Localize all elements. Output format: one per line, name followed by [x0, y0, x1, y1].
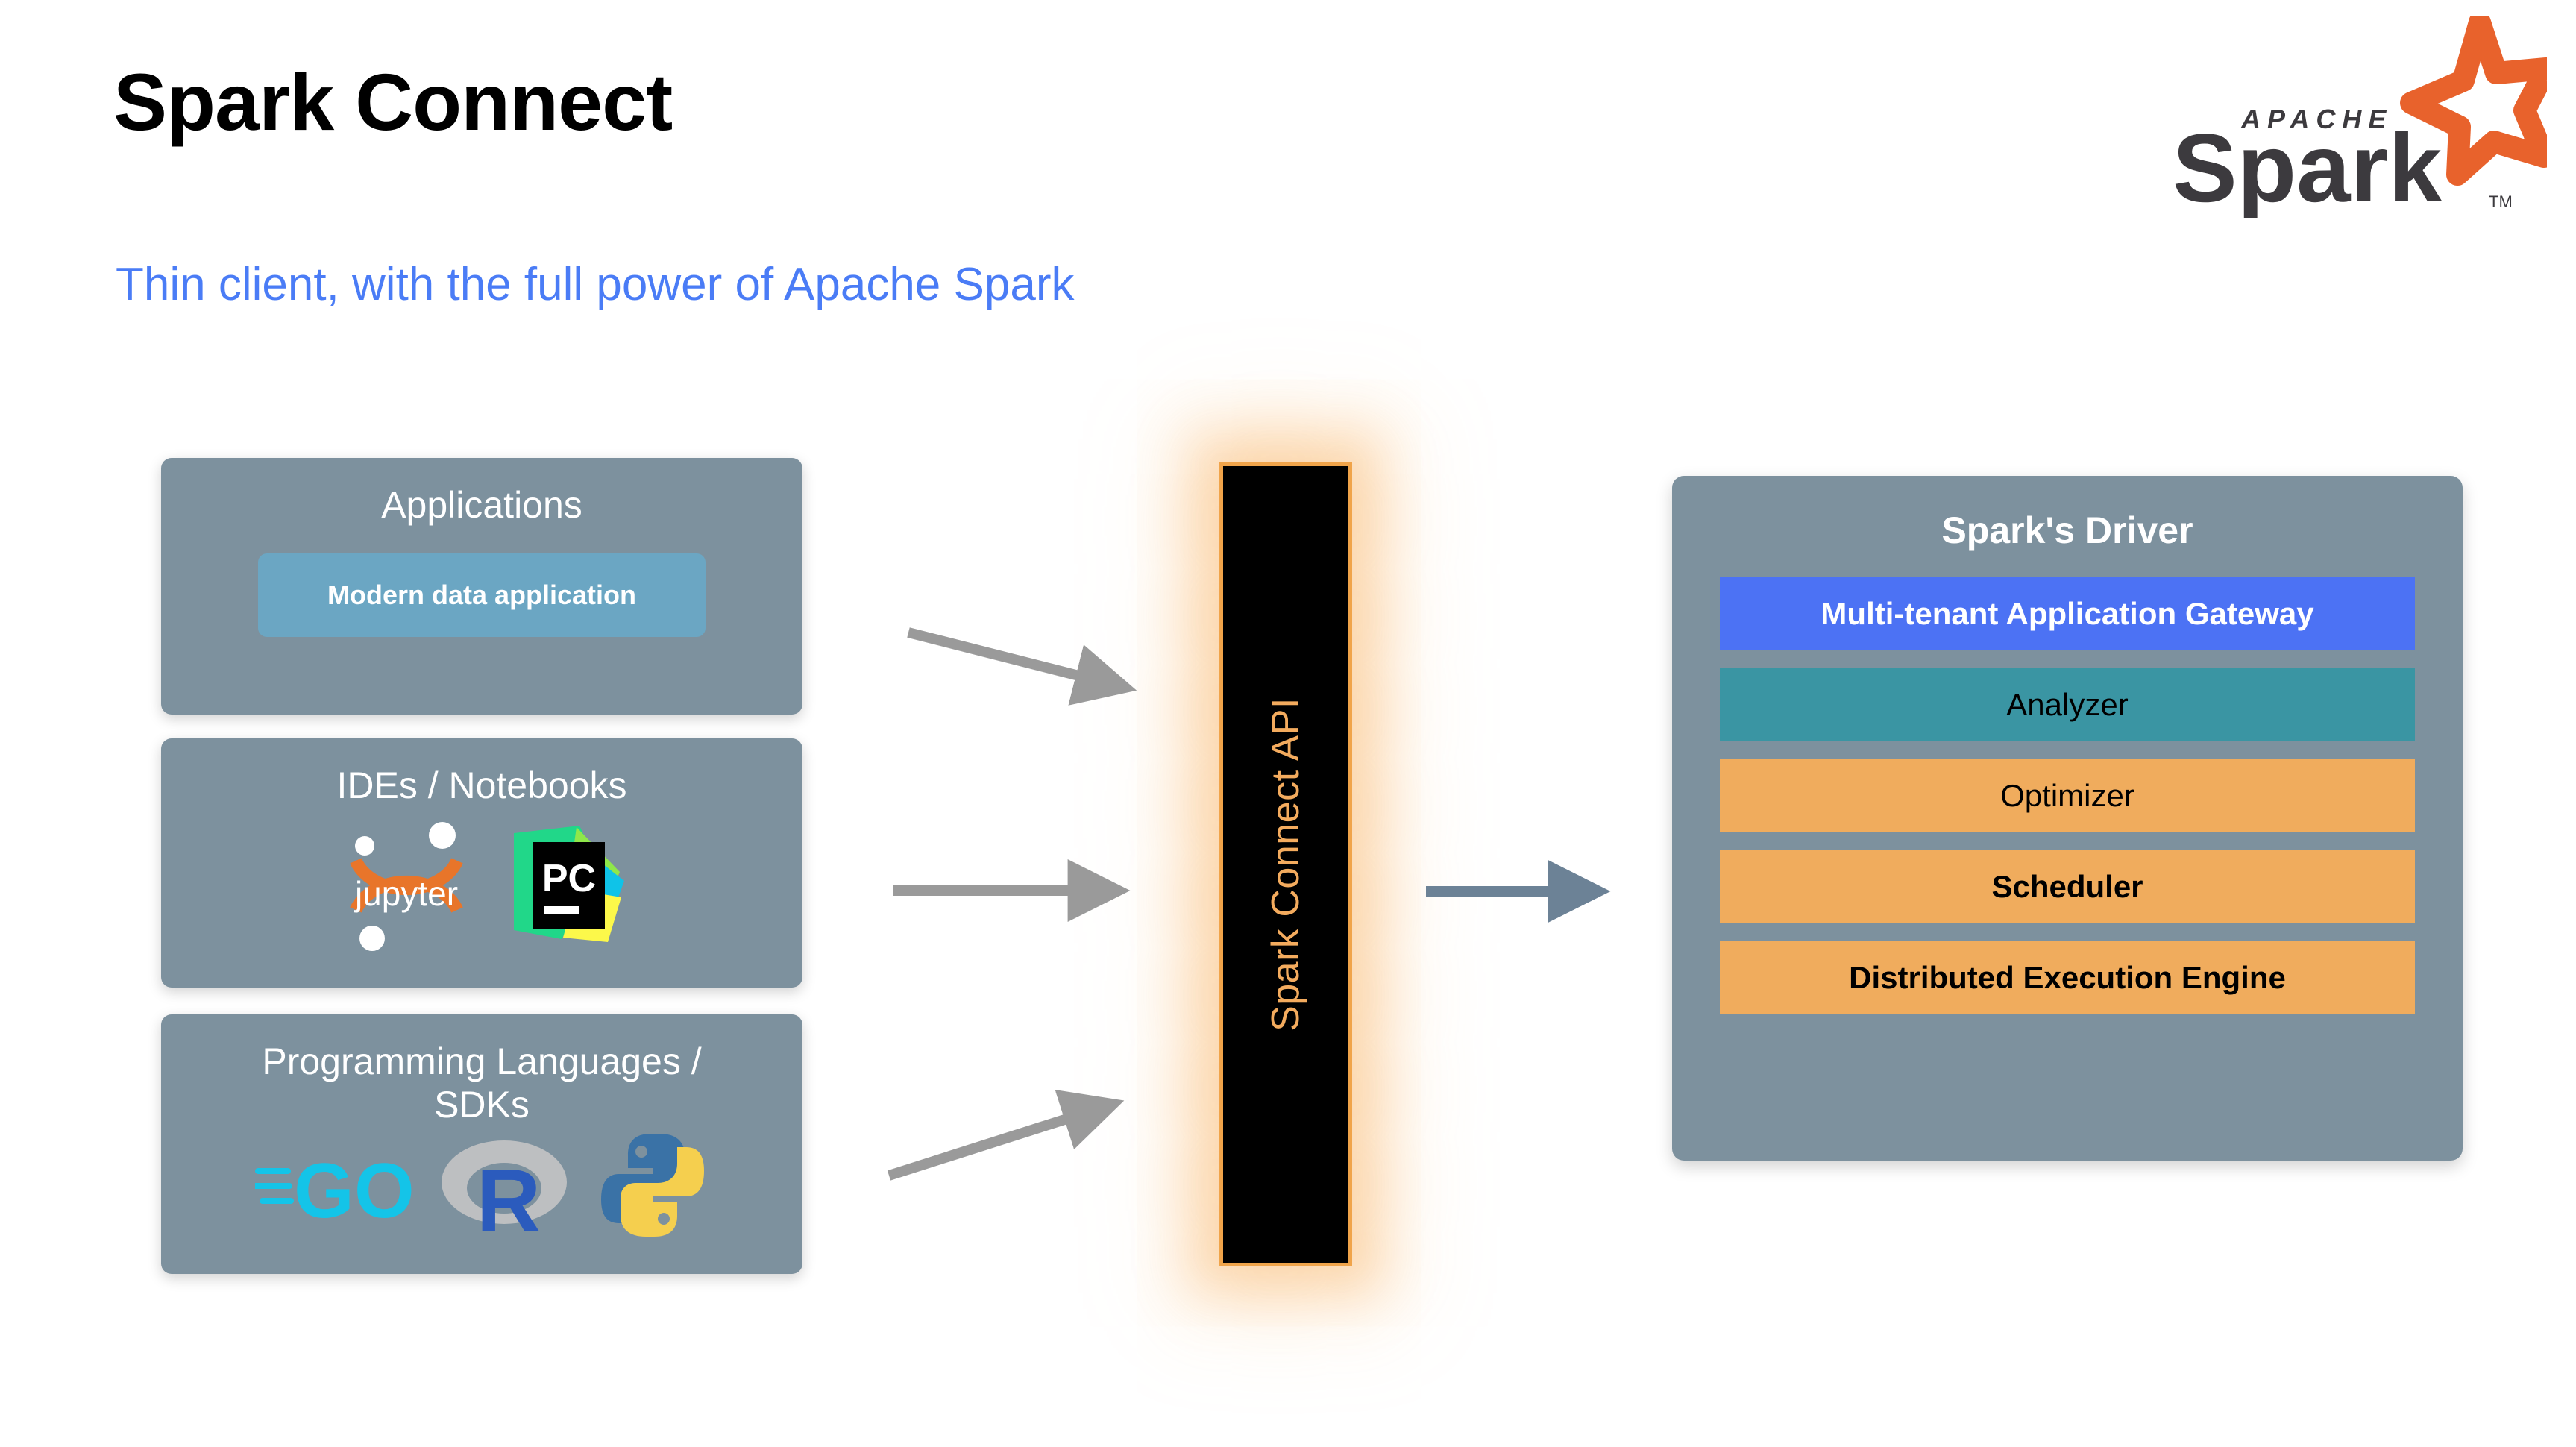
spark-connect-api-bar[interactable]: Spark Connect API — [1219, 462, 1352, 1266]
modern-data-application-label: Modern data application — [327, 580, 636, 611]
pycharm-pc-text: PC — [542, 857, 596, 900]
card-title-programming-languages: Programming Languages / SDKs — [262, 1040, 701, 1126]
client-card-applications[interactable]: Applications Modern data application — [161, 458, 802, 715]
logo-spark-text: Spark — [2173, 113, 2443, 218]
go-wordmark: GO — [294, 1148, 412, 1234]
r-wordmark: R — [477, 1151, 541, 1237]
driver-row-label: Scheduler — [1991, 869, 2143, 905]
jupyter-wordmark: jupyter — [354, 874, 458, 913]
card-title-line1: Programming Languages / — [262, 1040, 701, 1082]
modern-data-application-box[interactable]: Modern data application — [258, 553, 706, 637]
ide-logo-row: jupyter PC — [336, 814, 627, 956]
page-title: Spark Connect — [113, 58, 672, 147]
spark-driver-title: Spark's Driver — [1941, 509, 2193, 552]
slide-canvas: Spark Connect Thin client, with the full… — [0, 0, 2576, 1447]
driver-row-optimizer[interactable]: Optimizer — [1720, 759, 2415, 832]
apache-spark-logo: APACHE Spark TM — [2129, 16, 2547, 218]
language-logo-row: GO R — [255, 1129, 709, 1241]
driver-row-label: Distributed Execution Engine — [1849, 960, 2286, 996]
pycharm-logo: PC — [508, 826, 627, 945]
card-title-applications: Applications — [381, 483, 582, 527]
python-logo — [597, 1129, 709, 1241]
jupyter-logo: jupyter — [336, 814, 478, 956]
driver-row-label: Multi-tenant Application Gateway — [1821, 596, 2313, 632]
driver-row-analyzer[interactable]: Analyzer — [1720, 668, 2415, 741]
go-logo: GO — [255, 1137, 412, 1234]
logo-tm-text: TM — [2489, 192, 2513, 211]
arrow-languages-to-connect — [889, 1111, 1090, 1176]
spark-connect-api-label: Spark Connect API — [1263, 697, 1308, 1032]
driver-row-label: Analyzer — [2006, 687, 2128, 723]
driver-row-label: Optimizer — [2000, 778, 2134, 814]
driver-row-scheduler[interactable]: Scheduler — [1720, 850, 2415, 923]
card-title-line2: SDKs — [434, 1084, 530, 1126]
client-card-programming-languages[interactable]: Programming Languages / SDKs GO — [161, 1014, 802, 1274]
spark-driver-panel[interactable]: Spark's Driver Multi-tenant Application … — [1672, 476, 2463, 1161]
driver-row-distributed-execution-engine[interactable]: Distributed Execution Engine — [1720, 941, 2415, 1014]
client-card-ides-notebooks[interactable]: IDEs / Notebooks jupyter — [161, 738, 802, 988]
arrow-applications-to-connect — [908, 633, 1102, 682]
r-logo: R — [437, 1133, 571, 1237]
page-subtitle: Thin client, with the full power of Apac… — [116, 260, 1074, 310]
card-title-ides-notebooks: IDEs / Notebooks — [336, 764, 626, 807]
driver-row-multi-tenant-application-gateway[interactable]: Multi-tenant Application Gateway — [1720, 577, 2415, 650]
